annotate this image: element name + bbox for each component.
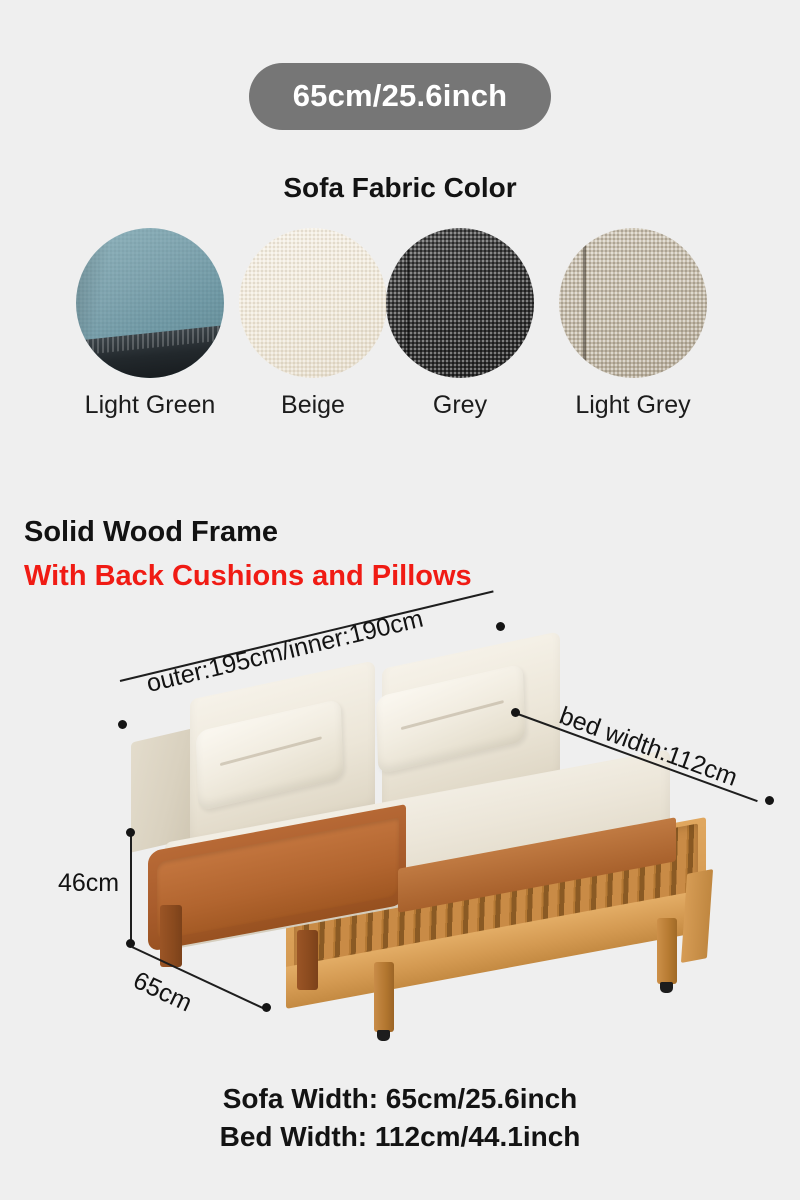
bed-leg-right	[657, 918, 677, 984]
fabric-texture	[239, 228, 387, 378]
sofa-leg-middle	[297, 930, 318, 990]
bed-end-rail	[681, 869, 713, 963]
fabric-label-light-grey: Light Grey	[548, 392, 718, 420]
solid-wood-frame-heading: Solid Wood Frame	[24, 516, 278, 549]
fabric-label-light-green: Light Green	[65, 392, 235, 420]
fabric-option-beige[interactable]: Beige	[228, 228, 398, 420]
summary-sofa-width: Sofa Width: 65cm/25.6inch	[0, 1080, 800, 1118]
sofa-leg-left	[160, 905, 182, 967]
depth-dim-endpoint-right	[262, 1003, 271, 1012]
sofa-bed-illustration	[0, 600, 800, 1060]
bed-leg-left	[374, 962, 394, 1032]
fabric-swatch-light-grey[interactable]	[559, 228, 707, 378]
summary-bed-width: Bed Width: 112cm/44.1inch	[0, 1118, 800, 1156]
back-cushions-heading: With Back Cushions and Pillows	[24, 560, 472, 593]
product-infographic: 65cm/25.6inch Sofa Fabric Color Light Gr…	[0, 0, 800, 1200]
pillow-crease	[400, 700, 503, 730]
fabric-label-grey: Grey	[375, 392, 545, 420]
fabric-seam	[583, 228, 586, 378]
product-image: outer:195cm/inner:190cm bed width:112cm …	[0, 600, 800, 1060]
length-dim-endpoint-right	[496, 622, 505, 631]
fabric-swatch-row: Light Green Beige Grey Light Grey	[0, 228, 800, 458]
height-dim-endpoint-top	[126, 828, 135, 837]
size-badge: 65cm/25.6inch	[249, 63, 552, 130]
bed-width-dim-endpoint-left	[511, 708, 520, 717]
fabric-swatch-grey[interactable]	[386, 228, 534, 378]
length-dim-endpoint-left	[118, 720, 127, 729]
fabric-label-beige: Beige	[228, 392, 398, 420]
fabric-swatch-beige[interactable]	[239, 228, 387, 378]
sofa-back-panel	[131, 727, 197, 852]
fabric-texture	[559, 228, 707, 378]
size-badge-container: 65cm/25.6inch	[0, 63, 800, 130]
fabric-option-light-green[interactable]: Light Green	[65, 228, 235, 420]
fabric-seam	[407, 228, 409, 378]
bed-width-dim-endpoint-right	[765, 796, 774, 805]
pillow-crease	[220, 737, 321, 767]
caster-wheel-right	[660, 982, 673, 993]
fabric-option-light-grey[interactable]: Light Grey	[548, 228, 718, 420]
caster-wheel-left	[377, 1030, 390, 1041]
fabric-swatch-light-green[interactable]	[76, 228, 224, 378]
height-dimension-line	[130, 832, 132, 944]
height-dimension-label: 46cm	[58, 871, 119, 896]
fabric-option-grey[interactable]: Grey	[375, 228, 545, 420]
fabric-section-title: Sofa Fabric Color	[0, 172, 800, 204]
dimension-summary: Sofa Width: 65cm/25.6inch Bed Width: 112…	[0, 1080, 800, 1156]
